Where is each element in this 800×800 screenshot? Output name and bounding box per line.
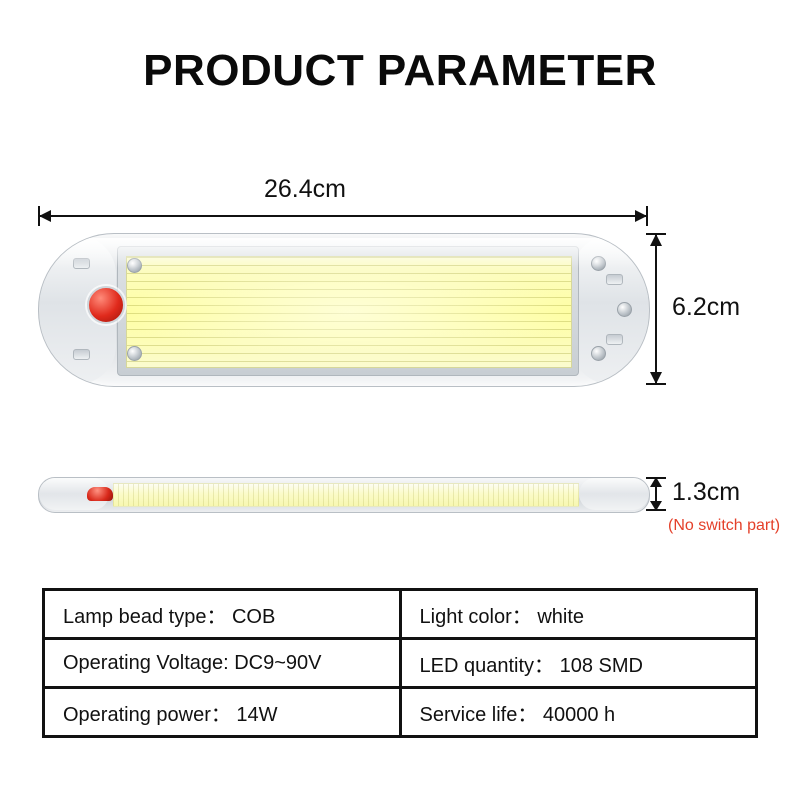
spec-cell-service-life: Service life： 40000 h	[400, 688, 757, 737]
thickness-dimension-label: 1.3cm	[672, 478, 740, 507]
thickness-note: (No switch part)	[668, 517, 780, 535]
side-view-figure: 1.3cm (No switch part)	[0, 455, 800, 565]
cob-led-strip-side	[113, 483, 579, 507]
screw-icon	[591, 346, 606, 361]
lamp-side-right-endcap	[579, 478, 649, 510]
arrow-down-icon	[650, 372, 662, 384]
top-view-figure: 26.4cm 6.2cm	[0, 175, 800, 405]
table-row: Operating Voltage: DC9~90V LED quantity：…	[44, 639, 757, 688]
vent-slot	[606, 334, 623, 345]
arrow-left-icon	[39, 210, 51, 222]
cob-led-panel	[126, 256, 572, 368]
spec-cell-led-quantity: LED quantity： 108 SMD	[400, 639, 757, 688]
table-row: Operating power： 14W Service life： 40000…	[44, 688, 757, 737]
vent-slot	[73, 349, 90, 360]
screw-icon	[617, 302, 632, 317]
red-power-switch	[87, 286, 125, 324]
spec-cell-light-color: Light color： white	[400, 590, 757, 639]
red-power-switch-side	[87, 487, 113, 501]
vent-slot	[606, 274, 623, 285]
housing-highlight	[39, 238, 649, 268]
lamp-top-view-image	[38, 233, 650, 387]
screw-icon	[127, 346, 142, 361]
thickness-dimension-line	[655, 477, 657, 511]
arrow-up-icon	[650, 234, 662, 246]
arrow-down-icon	[650, 501, 662, 511]
height-dimension-label: 6.2cm	[672, 293, 740, 322]
specification-table-body: Lamp bead type： COB Light color： white O…	[44, 590, 757, 737]
spec-cell-operating-power: Operating power： 14W	[44, 688, 401, 737]
width-dimension-line	[38, 215, 648, 217]
width-dimension-label: 26.4cm	[0, 175, 610, 204]
spec-cell-lamp-bead-type: Lamp bead type： COB	[44, 590, 401, 639]
height-dimension-line	[655, 233, 657, 385]
page-title: PRODUCT PARAMETER	[0, 46, 800, 96]
lamp-side-view-image	[38, 477, 650, 513]
cob-glow-overlay	[127, 257, 571, 367]
spec-cell-operating-voltage: Operating Voltage: DC9~90V	[44, 639, 401, 688]
table-row: Lamp bead type： COB Light color： white	[44, 590, 757, 639]
arrow-up-icon	[650, 477, 662, 487]
specification-table: Lamp bead type： COB Light color： white O…	[42, 588, 758, 738]
arrow-right-icon	[635, 210, 647, 222]
